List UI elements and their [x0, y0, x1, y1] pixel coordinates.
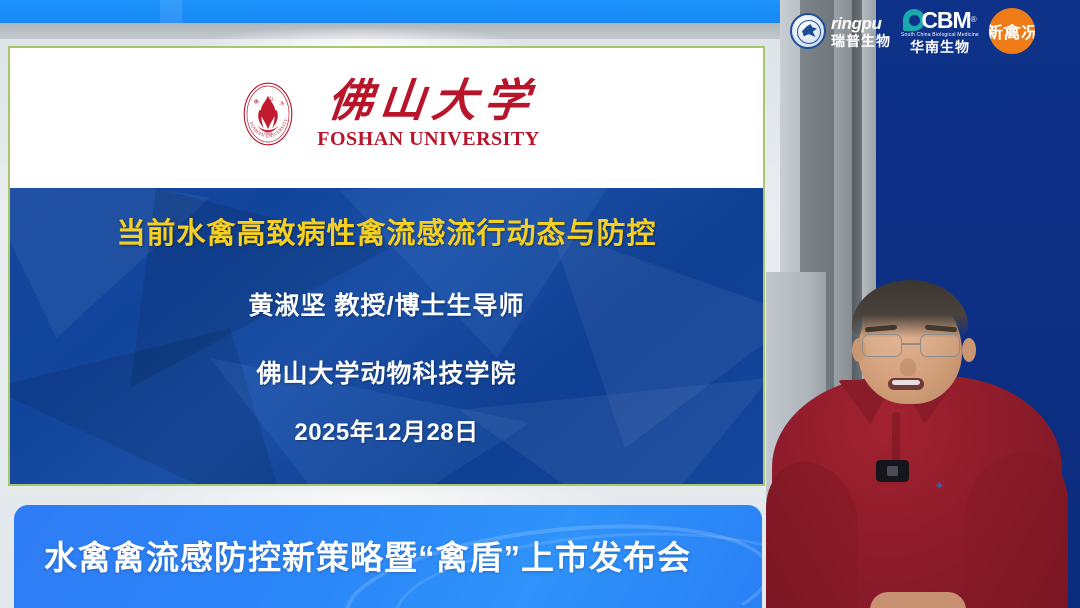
- cbm-name-en: South China Biological Medicine: [901, 33, 979, 38]
- top-blue-band: [0, 0, 795, 23]
- ringpu-name-cn: 瑞普生物: [831, 34, 891, 48]
- slide-text-block: 当前水禽高致病性禽流感流行动态与防控 黄淑坚 教授/博士生导师 佛山大学动物科技…: [10, 188, 763, 447]
- slide-title-panel: 当前水禽高致病性禽流感流行动态与防控 黄淑坚 教授/博士生导师 佛山大学动物科技…: [10, 188, 763, 484]
- sponsor-logo-cbm: CBM ® South China Biological Medicine 华南…: [901, 9, 979, 54]
- slide-date: 2025年12月28日: [10, 412, 763, 447]
- slide-author: 黄淑坚 教授/博士生导师: [10, 286, 763, 322]
- ringpu-emblem-icon: [790, 13, 826, 49]
- event-banner: 水禽禽流感防控新策略暨“禽盾”上市发布会: [14, 505, 762, 608]
- presenter-nose: [900, 358, 916, 376]
- eyeglasses-icon: [858, 334, 964, 358]
- shirt-logo-icon: ✦: [934, 478, 960, 494]
- sponsor-logo-bar: ringpu 瑞普生物 CBM ® South China Biological…: [790, 8, 1035, 54]
- presenter-right-arm: [964, 452, 1068, 608]
- presenter-hands: [870, 592, 966, 608]
- svg-text:佛: 佛: [253, 98, 260, 106]
- slide-header: 1958 FOSHAN UNIVERSITY 佛 山 大 佛山大学 FOSHAN…: [10, 48, 763, 188]
- slide-title: 当前水禽高致病性禽流感流行动态与防控: [10, 210, 763, 252]
- presenter-video: ✦: [766, 272, 1080, 608]
- presenter-ear-right: [962, 338, 976, 362]
- registered-mark-icon: ®: [971, 16, 977, 24]
- university-name-cn: 佛山大学: [319, 79, 539, 124]
- ringpu-name-en: ringpu: [831, 15, 891, 32]
- lapel-microphone-icon: [876, 460, 909, 482]
- svg-text:山: 山: [268, 96, 273, 103]
- slide-organization: 佛山大学动物科技学院: [10, 354, 763, 390]
- sponsor-logo-xinqinkuang: 新禽况: [989, 8, 1035, 54]
- live-stream-frame: 1958 FOSHAN UNIVERSITY 佛 山 大 佛山大学 FOSHAN…: [0, 0, 1080, 608]
- university-logo: 1958 FOSHAN UNIVERSITY 佛 山 大 佛山大学 FOSHAN…: [233, 79, 539, 149]
- presentation-slide: 1958 FOSHAN UNIVERSITY 佛 山 大 佛山大学 FOSHAN…: [8, 46, 765, 486]
- cbm-name-cn: 华南生物: [910, 40, 970, 54]
- xinqinkuang-name-cn: 新禽况: [989, 19, 1035, 43]
- foshan-university-seal-icon: 1958 FOSHAN UNIVERSITY 佛 山 大: [233, 79, 303, 149]
- presenter-mouth: [888, 378, 924, 390]
- sponsor-logo-ringpu: ringpu 瑞普生物: [790, 13, 891, 49]
- university-wordmark: 佛山大学 FOSHAN UNIVERSITY: [317, 79, 539, 149]
- svg-text:大: 大: [279, 100, 286, 108]
- presenter-left-arm: [766, 462, 858, 608]
- orange-circle-icon: 新禽况: [989, 8, 1035, 54]
- university-name-en: FOSHAN UNIVERSITY: [317, 129, 539, 149]
- event-banner-title: 水禽禽流感防控新策略暨“禽盾”上市发布会: [44, 531, 691, 579]
- cbm-letters: CBM: [921, 9, 970, 32]
